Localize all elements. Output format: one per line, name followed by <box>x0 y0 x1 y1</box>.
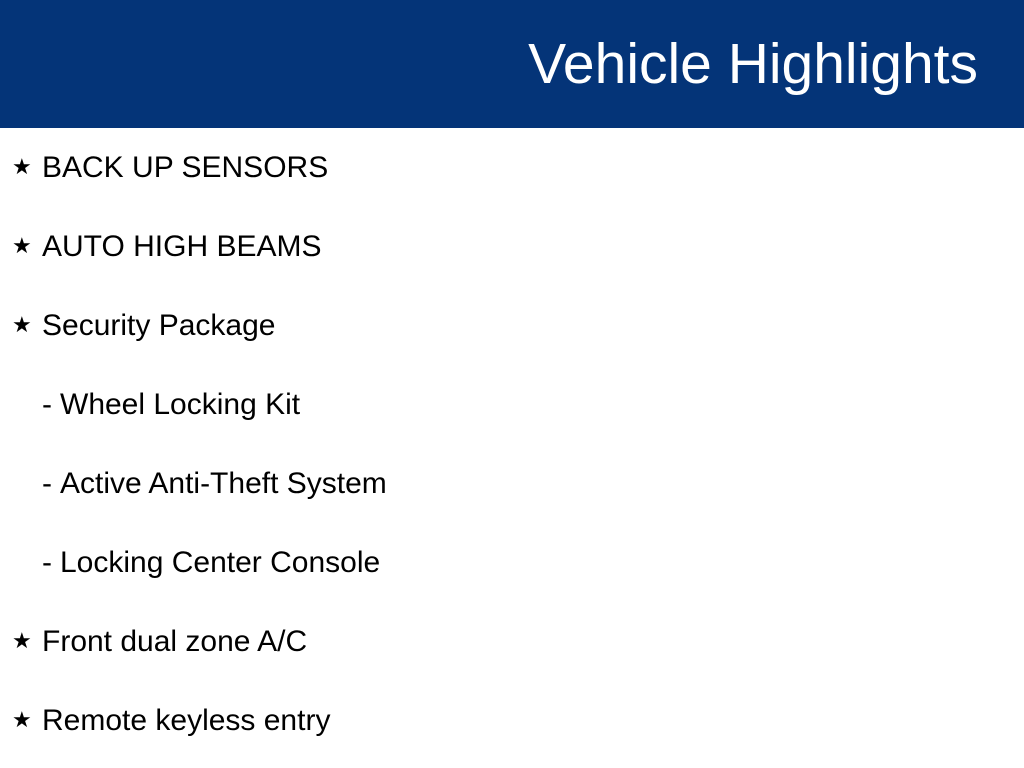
sub-list-item-label: Active Anti-Theft System <box>60 467 387 500</box>
dash-bullet-icon: - <box>42 390 60 420</box>
star-bullet-icon: ★ <box>12 315 42 337</box>
star-bullet-icon: ★ <box>12 710 42 732</box>
highlights-list: ★ BACK UP SENSORS ★ AUTO HIGH BEAMS ★ Se… <box>0 128 1024 768</box>
list-item[interactable]: ★ BACK UP SENSORS <box>0 128 1024 207</box>
slide-root: Vehicle Highlights ★ BACK UP SENSORS ★ A… <box>0 0 1024 768</box>
list-item-label: AUTO HIGH BEAMS <box>42 230 322 263</box>
list-item[interactable]: ★ Front dual zone A/C <box>0 602 1024 681</box>
star-bullet-icon: ★ <box>12 157 42 179</box>
sub-list-item-label: Wheel Locking Kit <box>60 388 300 421</box>
star-bullet-icon: ★ <box>12 631 42 653</box>
page-title: Vehicle Highlights <box>528 36 978 93</box>
list-item[interactable]: ★ AUTO HIGH BEAMS <box>0 207 1024 286</box>
dash-bullet-icon: - <box>42 548 60 578</box>
list-item-label: BACK UP SENSORS <box>42 151 328 184</box>
list-item-label: Remote keyless entry <box>42 704 330 737</box>
sub-list-item-label: Locking Center Console <box>60 546 380 579</box>
list-item-label: Security Package <box>42 309 275 342</box>
list-item[interactable]: ★ Remote keyless entry <box>0 681 1024 760</box>
dash-bullet-icon: - <box>42 469 60 499</box>
star-bullet-icon: ★ <box>12 236 42 258</box>
title-banner: Vehicle Highlights <box>0 0 1024 128</box>
sub-list-item[interactable]: - Locking Center Console <box>0 523 1024 602</box>
sub-list-item[interactable]: - Wheel Locking Kit <box>0 365 1024 444</box>
sub-list-item[interactable]: - Active Anti-Theft System <box>0 444 1024 523</box>
list-item[interactable]: ★ Security Package <box>0 286 1024 365</box>
list-item-label: Front dual zone A/C <box>42 625 307 658</box>
